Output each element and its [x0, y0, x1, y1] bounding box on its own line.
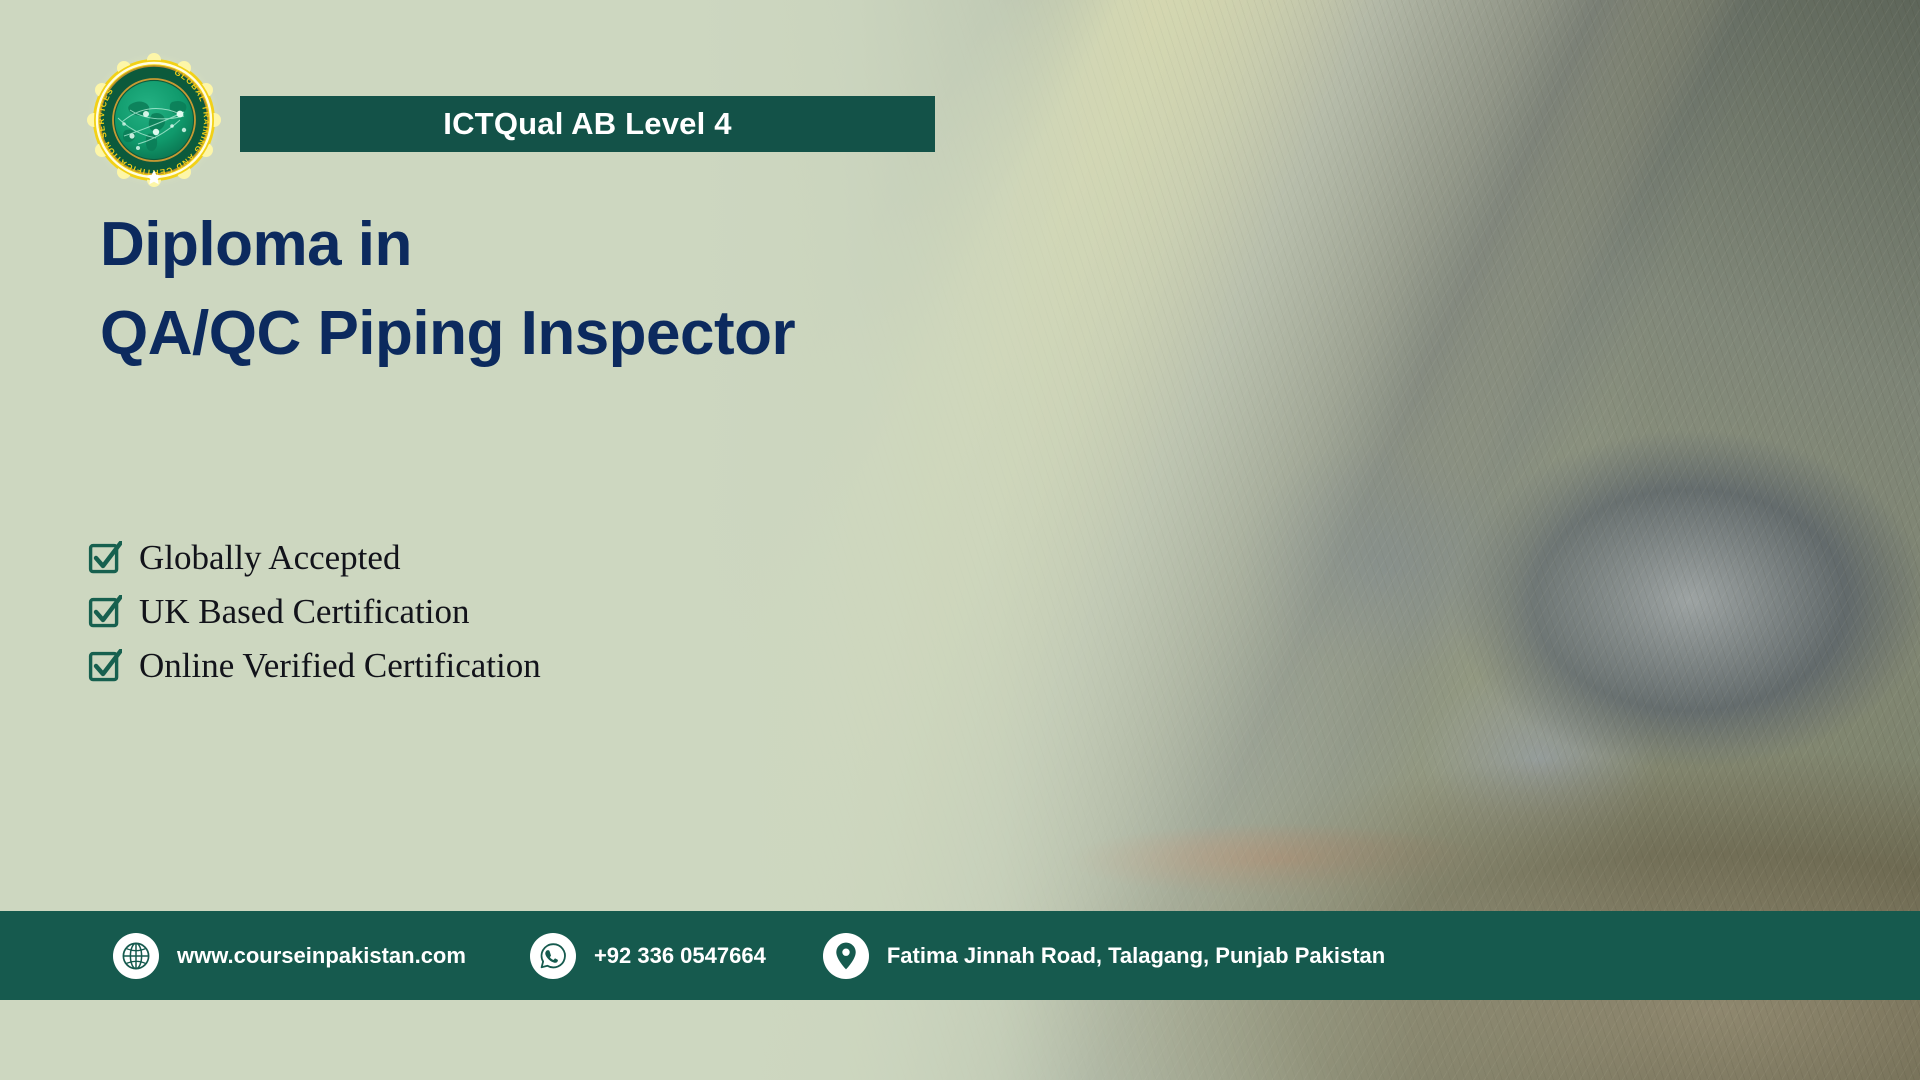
contact-footer-bar: www.courseinpakistan.com +92 336 0547664… — [0, 911, 1920, 1000]
qualification-level-banner: ICTQual AB Level 4 — [240, 96, 935, 152]
list-item-label: Globally Accepted — [139, 538, 400, 578]
contact-address[interactable]: Fatima Jinnah Road, Talagang, Punjab Pak… — [823, 911, 1385, 1000]
globe-icon — [113, 933, 159, 979]
location-pin-icon — [823, 933, 869, 979]
list-item-label: UK Based Certification — [139, 592, 469, 632]
list-item: UK Based Certification — [88, 585, 541, 639]
checkbox-checked-icon — [88, 541, 122, 575]
course-title: Diploma in QA/QC Piping Inspector — [100, 200, 1080, 379]
list-item: Globally Accepted — [88, 531, 541, 585]
poster-canvas: GLOBAL TRAINING AND CERTIFICATION SERVIC… — [0, 0, 1920, 1080]
feature-list: Globally Accepted UK Based Certification… — [88, 531, 541, 693]
list-item: Online Verified Certification — [88, 639, 541, 693]
contact-phone[interactable]: +92 336 0547664 — [530, 911, 766, 1000]
course-title-line1: Diploma in — [100, 210, 412, 279]
qualification-level-label: ICTQual AB Level 4 — [443, 106, 731, 142]
checkbox-checked-icon — [88, 595, 122, 629]
phone-label: +92 336 0547664 — [594, 943, 766, 969]
contact-website[interactable]: www.courseinpakistan.com — [113, 911, 466, 1000]
address-label: Fatima Jinnah Road, Talagang, Punjab Pak… — [887, 943, 1385, 969]
certification-seal-icon: GLOBAL TRAINING AND CERTIFICATION SERVIC… — [86, 52, 222, 188]
list-item-label: Online Verified Certification — [139, 646, 541, 686]
whatsapp-icon — [530, 933, 576, 979]
course-title-line2: QA/QC Piping Inspector — [100, 289, 1080, 378]
website-label: www.courseinpakistan.com — [177, 943, 466, 969]
checkbox-checked-icon — [88, 649, 122, 683]
